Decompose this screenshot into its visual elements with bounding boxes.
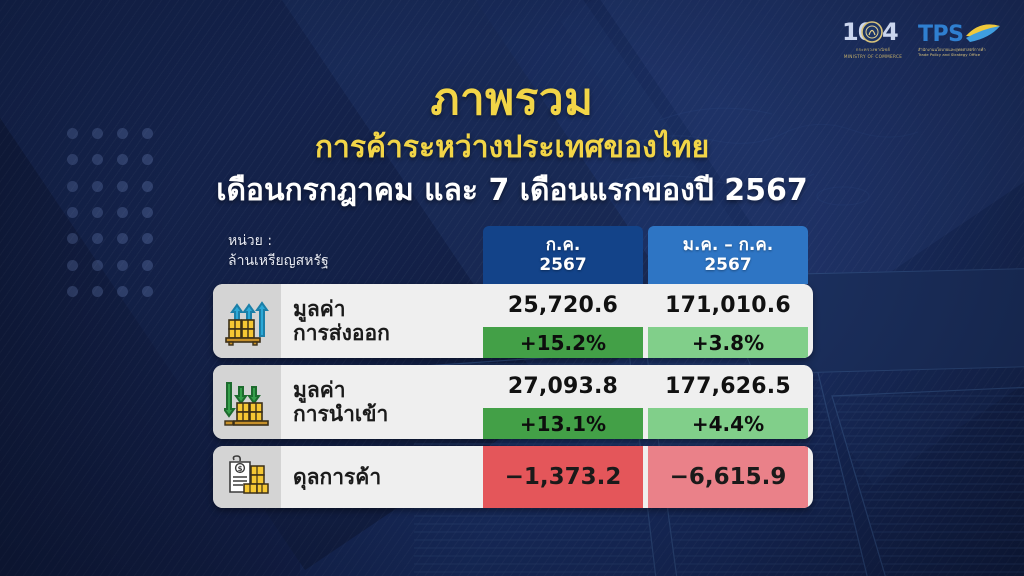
svg-text:4: 4 [882,18,899,46]
trade-summary-table: ก.ค. 2567 ม.ค. – ก.ค. 2567 [213,226,813,515]
balance-label: ดุลการค้า [293,465,381,489]
column-header-jul-line1: ก.ค. [546,235,581,255]
svg-text:TPS: TPS [918,22,963,46]
column-header-jan-jul-line2: 2567 [704,255,751,275]
export-pallet-up-arrows-icon [224,296,270,346]
export-jul-cell: 25,720.6 +15.2% [483,284,643,358]
logo-row: 10 4 กระทรวงพาณิชย์ MINISTRY OF COMMERCE… [842,18,1002,59]
export-label-cell: มูลค่า การส่งออก [281,284,483,358]
anniversary-logo-subtitle-en: MINISTRY OF COMMERCE [844,54,902,60]
export-label-line2: การส่งออก [293,321,390,345]
import-jul-percent: +13.1% [483,408,643,439]
import-jul-cell: 27,093.8 +13.1% [483,365,643,439]
column-header-jul: ก.ค. 2567 [483,226,643,284]
import-pallet-down-arrows-icon [224,377,270,427]
export-label-line1: มูลค่า [293,297,390,321]
column-header-jul-line2: 2567 [539,255,586,275]
title-block: ภาพรวม การค้าระหว่างประเทศของไทย เดือนกร… [0,76,1024,208]
import-janjul-cell: 177,626.5 +4.4% [648,365,808,439]
export-janjul-percent: +3.8% [648,327,808,358]
export-jul-value: 25,720.6 [483,284,643,327]
import-janjul-value: 177,626.5 [648,365,808,408]
export-jul-percent: +15.2% [483,327,643,358]
export-janjul-cell: 171,010.6 +3.8% [648,284,808,358]
tpso-mark-icon: TPS [918,20,1002,46]
page-period-title: เดือนกรกฎาคม และ 7 เดือนแรกของปี 2567 [0,173,1024,208]
svg-text:$: $ [238,465,243,473]
page-title: ภาพรวม [0,76,1024,124]
import-icon-cell [213,365,281,439]
balance-label-cell: ดุลการค้า [281,446,483,508]
import-jul-value: 27,093.8 [483,365,643,408]
table-row: มูลค่า การส่งออก 25,720.6 +15.2% 171,010… [213,284,813,358]
table-row: $ [213,446,813,508]
page-subtitle: การค้าระหว่างประเทศของไทย [0,130,1024,165]
import-label-cell: มูลค่า การนำเข้า [281,365,483,439]
tpso-logo: TPS สำนักงานนโยบายและยุทธศาสตร์การค้า Tr… [918,20,1002,58]
anniversary-104-logo: 10 4 กระทรวงพาณิชย์ MINISTRY OF COMMERCE [842,18,904,59]
invoice-dollar-boxes-icon: $ [224,454,270,500]
anniversary-104-mark-icon: 10 4 [842,18,904,46]
column-header-jan-jul-line1: ม.ค. – ก.ค. [683,235,773,255]
import-janjul-percent: +4.4% [648,408,808,439]
import-label-line2: การนำเข้า [293,402,388,426]
import-label-line1: มูลค่า [293,378,388,402]
anniversary-logo-subtitle-th: กระทรวงพาณิชย์ [856,47,890,53]
table-row: มูลค่า การนำเข้า 27,093.8 +13.1% 177,626… [213,365,813,439]
tpso-logo-subtitle-en: Trade Policy and Strategy Office [918,52,986,58]
balance-janjul-value: −6,615.9 [648,446,808,508]
tpso-logo-subtitle: สำนักงานนโยบายและยุทธศาสตร์การค้า Trade … [918,47,986,58]
slide-canvas: 10 4 กระทรวงพาณิชย์ MINISTRY OF COMMERCE… [0,0,1024,576]
balance-jul-value: −1,373.2 [483,446,643,508]
export-icon-cell [213,284,281,358]
export-janjul-value: 171,010.6 [648,284,808,327]
balance-icon-cell: $ [213,446,281,508]
table-header-row: ก.ค. 2567 ม.ค. – ก.ค. 2567 [213,226,813,284]
column-header-jan-jul: ม.ค. – ก.ค. 2567 [648,226,808,284]
